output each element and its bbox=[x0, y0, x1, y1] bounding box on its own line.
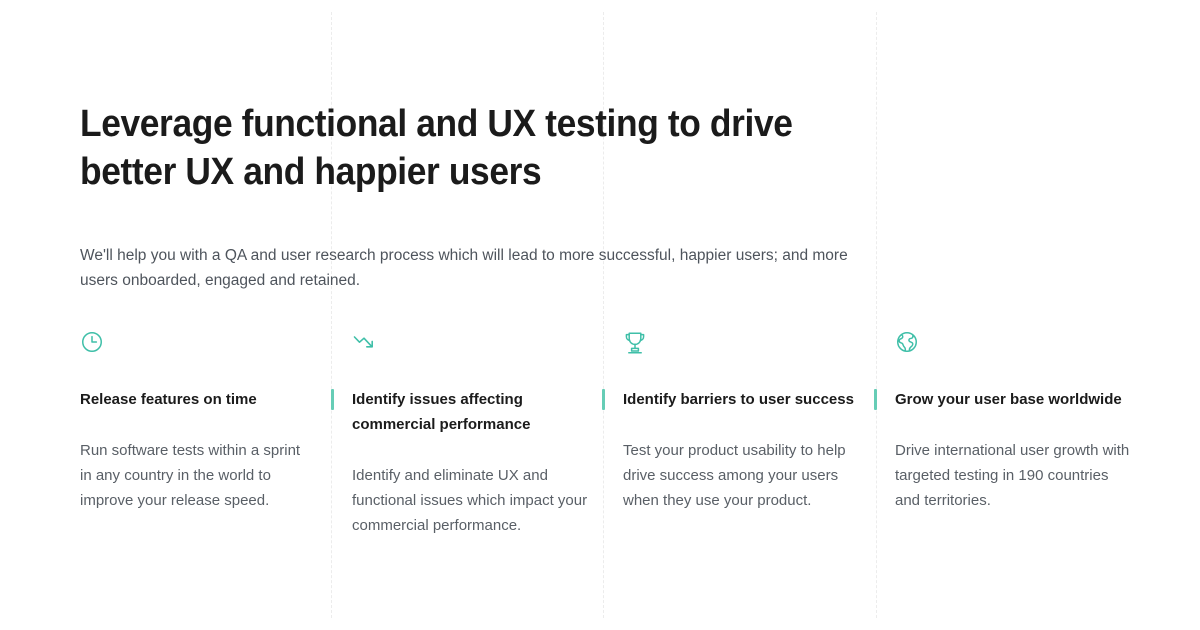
feature-title: Identify barriers to user success bbox=[623, 387, 855, 412]
page-title: Leverage functional and UX testing to dr… bbox=[80, 100, 824, 196]
feature-title-text: Identify barriers to user success bbox=[623, 391, 854, 408]
feature-title-text: Identify issues affecting commercial per… bbox=[352, 391, 530, 433]
feature-columns: Release features on time Run software te… bbox=[0, 330, 1200, 610]
feature-column-global-growth: Grow your user base worldwide Drive inte… bbox=[895, 330, 1135, 513]
feature-column-user-success: Identify barriers to user success Test y… bbox=[623, 330, 855, 513]
feature-title-text: Release features on time bbox=[80, 391, 257, 408]
feature-column-commercial-performance: Identify issues affecting commercial per… bbox=[352, 330, 588, 538]
trophy-icon bbox=[623, 330, 855, 360]
clock-icon bbox=[80, 330, 310, 360]
accent-bar bbox=[602, 389, 605, 410]
feature-title-text: Grow your user base worldwide bbox=[895, 391, 1122, 408]
feature-body: Identify and eliminate UX and functional… bbox=[352, 463, 588, 538]
trend-down-icon bbox=[352, 330, 588, 360]
feature-title: Release features on time bbox=[80, 387, 310, 412]
globe-icon bbox=[895, 330, 1135, 360]
feature-body: Drive international user growth with tar… bbox=[895, 438, 1135, 513]
feature-title: Grow your user base worldwide bbox=[895, 387, 1135, 412]
hero-subheading: We'll help you with a QA and user resear… bbox=[80, 243, 855, 293]
feature-column-release-features: Release features on time Run software te… bbox=[80, 330, 310, 513]
feature-body: Run software tests within a sprint in an… bbox=[80, 438, 310, 513]
accent-bar bbox=[874, 389, 877, 410]
marketing-hero-section: Leverage functional and UX testing to dr… bbox=[0, 0, 1200, 630]
accent-bar bbox=[331, 389, 334, 410]
feature-title: Identify issues affecting commercial per… bbox=[352, 387, 588, 437]
feature-body: Test your product usability to help driv… bbox=[623, 438, 855, 513]
